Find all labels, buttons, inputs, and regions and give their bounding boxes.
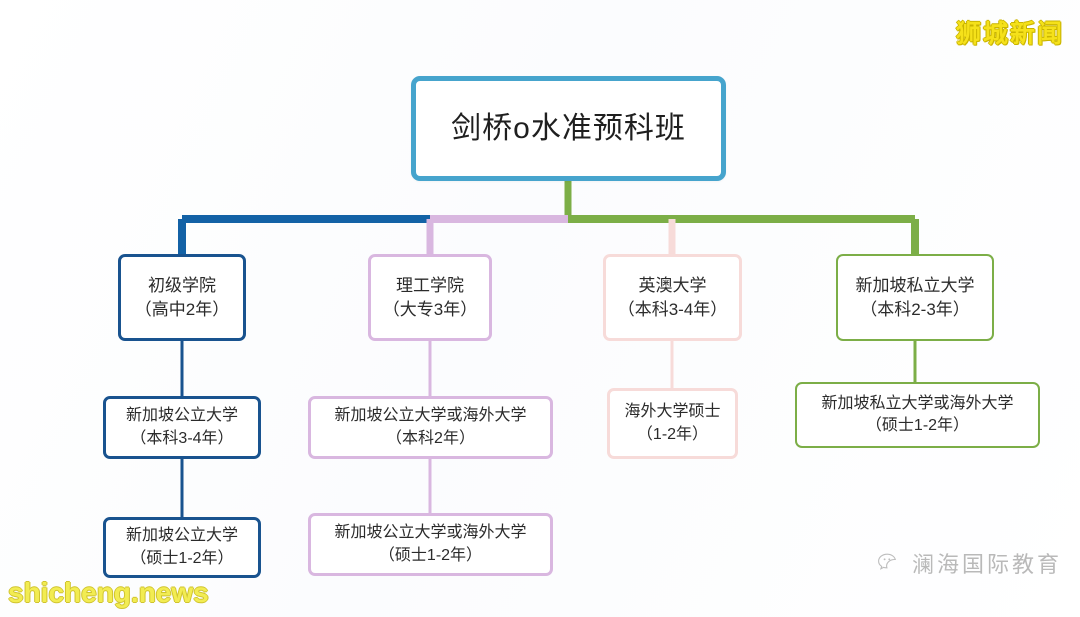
node-private-level2-line2: （硕士1-2年） [866, 415, 969, 437]
node-jc-level1[interactable]: 初级学院 （高中2年） [118, 254, 246, 341]
node-ukau-level1-line1: 英澳大学 [639, 274, 707, 297]
node-jc-level1-line2: （高中2年） [135, 298, 229, 321]
node-private-level1[interactable]: 新加坡私立大学 （本科2-3年） [836, 254, 994, 341]
node-poly-level3-line2: （硕士1-2年） [379, 545, 482, 567]
node-jc-level2[interactable]: 新加坡公立大学 （本科3-4年） [103, 396, 261, 459]
node-ukau-level2-line2: （1-2年） [637, 424, 708, 446]
node-poly-level1-line2: （大专3年） [383, 298, 477, 321]
node-ukau-level1[interactable]: 英澳大学 （本科3-4年） [603, 254, 742, 341]
node-jc-level3[interactable]: 新加坡公立大学 （硕士1-2年） [103, 517, 261, 578]
node-poly-level2-line2: （本科2年） [386, 428, 475, 450]
node-private-level2[interactable]: 新加坡私立大学或海外大学 （硕士1-2年） [795, 382, 1040, 448]
node-jc-level3-line2: （硕士1-2年） [130, 548, 233, 570]
node-root[interactable]: 剑桥o水准预科班 [411, 76, 726, 181]
node-private-level1-line1: 新加坡私立大学 [856, 274, 975, 297]
node-jc-level2-line1: 新加坡公立大学 [126, 405, 238, 427]
node-poly-level1-line1: 理工学院 [396, 274, 464, 297]
node-jc-level2-line2: （本科3-4年） [130, 428, 233, 450]
node-ukau-level2-line1: 海外大学硕士 [624, 401, 720, 423]
node-ukau-level1-line2: （本科3-4年） [618, 298, 728, 321]
node-root-label: 剑桥o水准预科班 [451, 108, 686, 149]
node-ukau-level2[interactable]: 海外大学硕士 （1-2年） [607, 388, 738, 459]
node-poly-level3[interactable]: 新加坡公立大学或海外大学 （硕士1-2年） [308, 513, 553, 576]
node-poly-level2[interactable]: 新加坡公立大学或海外大学 （本科2年） [308, 396, 553, 459]
node-jc-level1-line1: 初级学院 [148, 274, 216, 297]
node-private-level2-line1: 新加坡私立大学或海外大学 [821, 393, 1013, 415]
node-poly-level3-line1: 新加坡公立大学或海外大学 [334, 522, 526, 544]
node-poly-level2-line1: 新加坡公立大学或海外大学 [334, 405, 526, 427]
node-jc-level3-line1: 新加坡公立大学 [126, 525, 238, 547]
diagram-canvas: 剑桥o水准预科班 初级学院 （高中2年） 新加坡公立大学 （本科3-4年） 新加… [0, 0, 1080, 617]
node-private-level1-line2: （本科2-3年） [860, 298, 970, 321]
node-poly-level1[interactable]: 理工学院 （大专3年） [368, 254, 492, 341]
